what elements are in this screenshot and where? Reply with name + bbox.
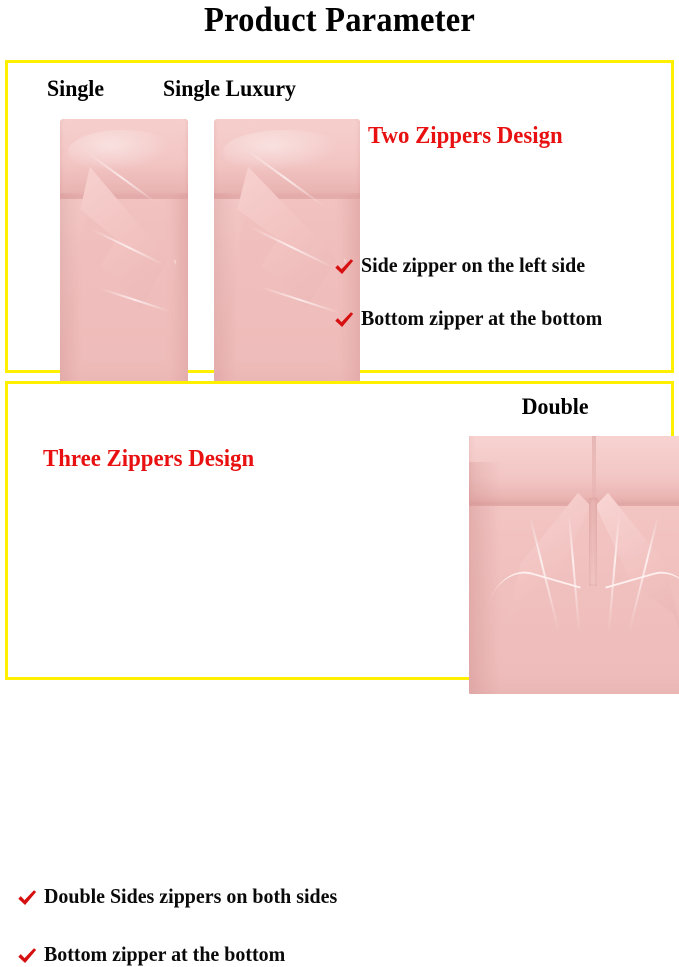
pillow-section — [214, 119, 360, 199]
feature-item: Bottom zipper at the bottom — [333, 306, 615, 331]
feature-text: Bottom zipper at the bottom — [44, 942, 285, 967]
heading-two-zippers-design: Two Zippers Design — [368, 123, 563, 150]
product-image-single-luxury — [214, 119, 360, 384]
heading-three-zippers-design: Three Zippers Design — [43, 446, 254, 473]
product-caption-single-luxury: Single Luxury — [163, 76, 296, 102]
page-title: Product Parameter — [24, 0, 655, 42]
center-split — [589, 498, 596, 586]
fabric-shadow-right — [170, 193, 188, 384]
single-products-panel: Single Single Luxury Two Zippers Design … — [5, 60, 674, 373]
bed-sheet-double-icon — [469, 436, 679, 694]
check-icon — [333, 256, 355, 278]
feature-item: Bottom zipper at the bottom — [16, 942, 298, 967]
check-icon — [16, 887, 38, 909]
feature-item: Double Sides zippers on both sides — [16, 884, 353, 909]
feature-text: Double Sides zippers on both sides — [44, 884, 337, 909]
product-caption-double: Double — [522, 394, 589, 420]
feature-text: Side zipper on the left side — [361, 253, 585, 278]
pillow-section — [60, 119, 188, 199]
feature-text: Bottom zipper at the bottom — [361, 306, 602, 331]
fabric-shadow-right — [340, 193, 360, 384]
product-image-single — [60, 119, 188, 384]
feature-item: Side zipper on the left side — [333, 253, 597, 278]
fabric-shadow-left — [214, 193, 237, 384]
product-image-double — [469, 436, 679, 694]
check-icon — [16, 945, 38, 967]
check-icon — [333, 309, 355, 331]
double-products-panel: Three Zippers Design Double Sides zipper… — [5, 381, 674, 680]
hem-edge-right — [605, 564, 679, 688]
fabric-shadow-left — [60, 193, 80, 384]
product-caption-single: Single — [47, 76, 104, 102]
bed-sheet-liner-icon — [60, 119, 188, 384]
bed-sheet-liner-icon — [214, 119, 360, 384]
